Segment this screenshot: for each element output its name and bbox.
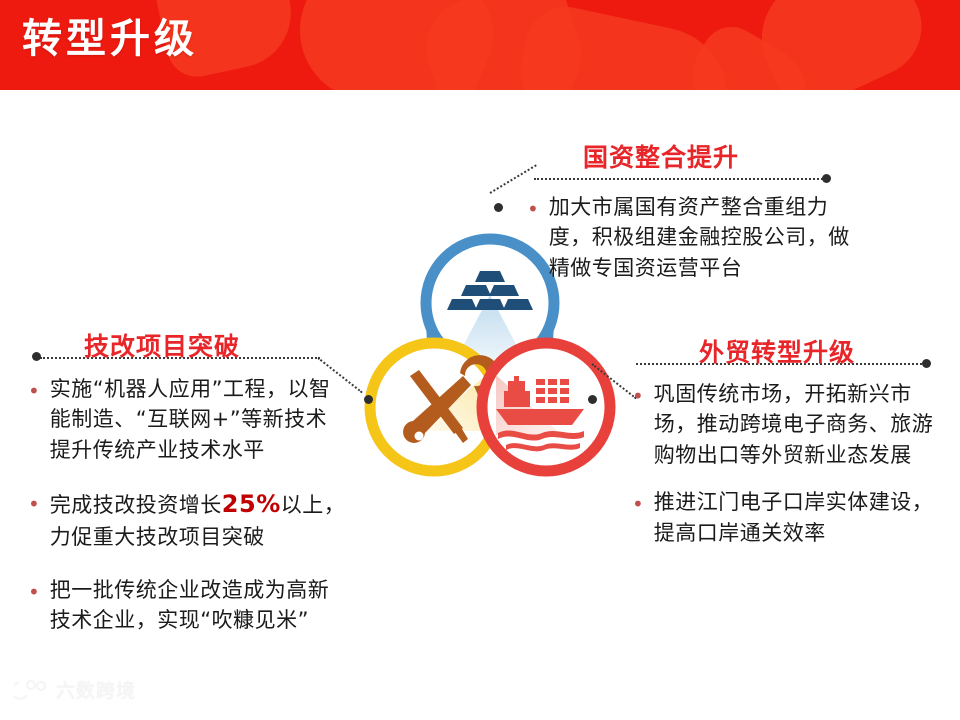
connector-dot-icon: [588, 395, 597, 404]
connector-dot-end: [922, 359, 931, 368]
connector-dot-icon: [364, 395, 373, 404]
bullet-marker-icon: •: [632, 494, 644, 514]
bullet-text: 把一批传统企业改造成为高新技术企业，实现“吹糠见米”: [50, 575, 348, 636]
bullet-marker-icon: •: [28, 381, 40, 401]
page-title: 转型升级: [22, 16, 198, 62]
list-item: • 巩固传统市场，开拓新兴市场，推动跨境电子商务、旅游购物出口等外贸新业态发展: [632, 379, 942, 470]
section-title-top: 国资整合提升: [583, 138, 739, 174]
watermark-text: 六数跨境: [56, 676, 136, 703]
watermark: 六数跨境: [14, 676, 136, 703]
list-item: • 实施“机器人应用”工程，以智能制造、“互联网+”等新技术提升传统产业技术水平: [28, 374, 348, 465]
connector-dot-icon: [494, 203, 503, 212]
header-banner: 转型升级: [0, 0, 960, 90]
section-body-left: • 实施“机器人应用”工程，以智能制造、“互联网+”等新技术提升传统产业技术水平…: [28, 374, 348, 657]
bullet-text: 完成技改投资增长25%以上，力促重大技改项目突破: [50, 487, 348, 552]
connector-dot-end: [822, 174, 831, 183]
bullet-text: 实施“机器人应用”工程，以智能制造、“互联网+”等新技术提升传统产业技术水平: [50, 374, 348, 465]
bullet-marker-icon: •: [632, 386, 644, 406]
slide-canvas: 转型升级: [0, 0, 960, 720]
section-body-right: • 巩固传统市场，开拓新兴市场，推动跨境电子商务、旅游购物出口等外贸新业态发展 …: [632, 379, 942, 565]
bullet-text: 巩固传统市场，开拓新兴市场，推动跨境电子商务、旅游购物出口等外贸新业态发展: [654, 379, 942, 470]
icon-circle-ship: [477, 338, 615, 476]
list-item: • 推进江门电子口岸实体建设，提高口岸通关效率: [632, 487, 942, 548]
bullet-text: 加大市属国有资产整合重组力度，积极组建金融控股公司，做精做专国资运营平台: [549, 192, 857, 283]
section-title-right: 外贸转型升级: [699, 333, 855, 369]
bullet-marker-icon: •: [28, 582, 40, 602]
list-item: • 加大市属国有资产整合重组力度，积极组建金融控股公司，做精做专国资运营平台: [527, 192, 857, 283]
section-title-left: 技改项目突破: [84, 327, 240, 363]
bullet-marker-icon: •: [527, 199, 539, 219]
list-item: • 把一批传统企业改造成为高新技术企业，实现“吹糠见米”: [28, 575, 348, 636]
bullet-marker-icon: •: [28, 494, 40, 514]
list-item: • 完成技改投资增长25%以上，力促重大技改项目突破: [28, 487, 348, 552]
bullet-text: 推进江门电子口岸实体建设，提高口岸通关效率: [654, 487, 942, 548]
logo-mark-icon: [14, 679, 48, 701]
section-body-top: • 加大市属国有资产整合重组力度，积极组建金融控股公司，做精做专国资运营平台: [527, 192, 857, 298]
connector-dot-end: [32, 352, 41, 361]
highlight-value: 25%: [222, 490, 281, 518]
